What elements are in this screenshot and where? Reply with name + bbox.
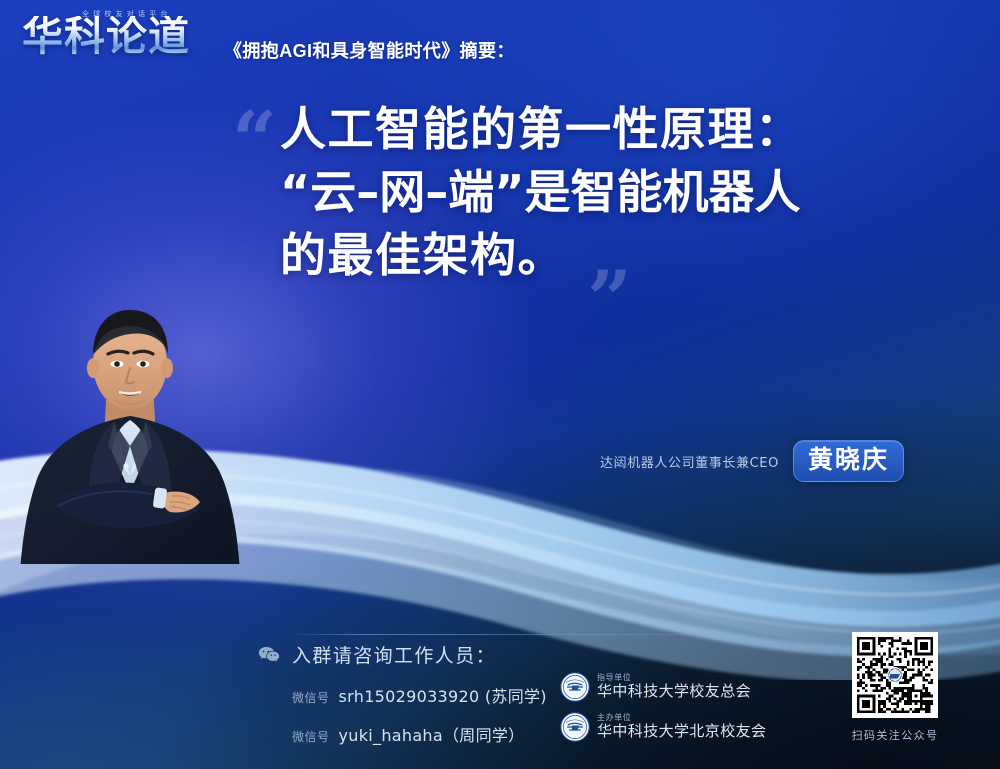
speaker-portrait: [18, 296, 242, 564]
contact-label: 微信号: [292, 728, 330, 745]
speaker-attribution: 达闼机器人公司董事长兼CEO 黄晓庆: [600, 440, 904, 482]
contact-row: 微信号 yuki_hahaha（周同学）: [292, 722, 547, 746]
organization-row: 主办单位 华中科技大学北京校友会: [560, 712, 766, 742]
brand-name: 华科论道: [22, 16, 190, 57]
quote-close-mark: ”: [587, 261, 632, 339]
university-seal-icon: [560, 672, 590, 702]
contact-header: 入群请咨询工作人员：: [258, 641, 547, 668]
contact-label: 微信号: [292, 689, 330, 706]
quote-line-2: “云–网–端”是智能机器人: [280, 161, 970, 224]
quote-open-mark: “: [232, 102, 277, 180]
university-seal-icon: [560, 712, 590, 742]
wechat-icon: [258, 646, 280, 663]
header: 全球校友对话平台 华科论道 《拥抱AGI和具身智能时代》摘要：: [0, 0, 1000, 92]
contact-value[interactable]: yuki_hahaha（周同学）: [339, 722, 525, 746]
footer-divider: [290, 634, 790, 635]
organization-name: 华中科技大学校友总会: [597, 683, 751, 701]
speaker-title: 达闼机器人公司董事长兼CEO: [600, 452, 779, 471]
qr-code[interactable]: [852, 632, 938, 718]
qr-code-pattern: [857, 637, 933, 713]
header-subtitle: 《拥抱AGI和具身智能时代》摘要：: [224, 37, 515, 63]
contact-row: 微信号 srh15029033920 (苏同学): [292, 683, 547, 707]
poster-canvas: 全球校友对话平台 华科论道 《拥抱AGI和具身智能时代》摘要： “ 人工智能的第…: [0, 0, 1000, 769]
organization-text: 主办单位 华中科技大学北京校友会: [597, 713, 766, 740]
qr-center-logo: [887, 667, 903, 683]
qr-caption: 扫码关注公众号: [843, 727, 947, 743]
organization-name: 华中科技大学北京校友会: [597, 723, 766, 741]
organization-text: 指导单位 华中科技大学校友总会: [597, 673, 751, 700]
speaker-name-badge: 黄晓庆: [793, 440, 904, 482]
contact-value[interactable]: srh15029033920 (苏同学): [339, 683, 547, 707]
organizations-section: 指导单位 华中科技大学校友总会 主办单位 华中科技大学北京校友会: [560, 672, 766, 752]
contact-title: 入群请咨询工作人员：: [292, 641, 496, 668]
brand-logo: 全球校友对话平台 华科论道: [22, 8, 218, 70]
qr-block: 扫码关注公众号: [843, 632, 947, 743]
contact-section: 入群请咨询工作人员： 微信号 srh15029033920 (苏同学) 微信号 …: [258, 641, 547, 746]
organization-row: 指导单位 华中科技大学校友总会: [560, 672, 766, 702]
quote-line-1: 人工智能的第一性原理：: [280, 98, 970, 161]
